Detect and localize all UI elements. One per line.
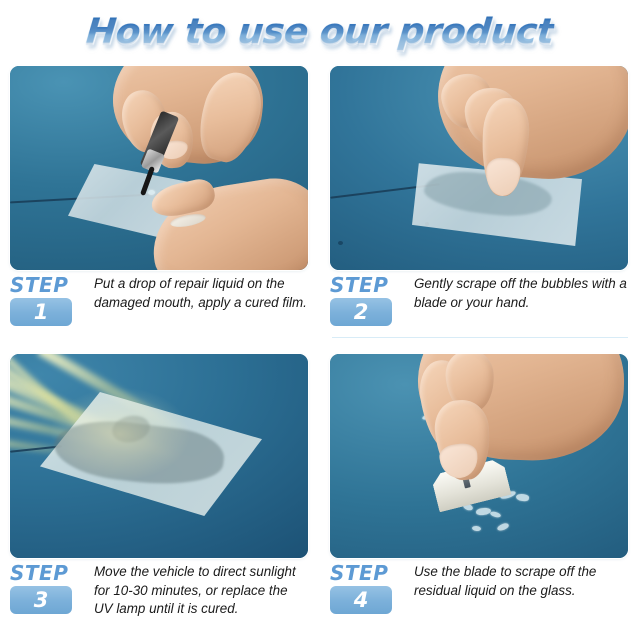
step-badge-group-1: STEP 1 [10,274,84,326]
step-card-2[interactable]: STEP 2 Gently scrape off the bubbles wit… [330,64,628,352]
row-divider-right [332,337,628,338]
steps-row-2: STEP 3 Move the vehicle to direct sunlig… [0,352,640,640]
step-image-2 [330,66,628,270]
liquid-drop [148,190,155,195]
step-badge-group-2: STEP 2 [330,274,404,326]
step-word-label: STEP [330,275,404,295]
step-word-label: STEP [330,563,404,583]
step-card-4[interactable]: STEP 4 Use the blade to scrape off the r… [330,352,628,640]
step-description: Put a drop of repair liquid on the damag… [84,274,308,312]
step-badge-group-4: STEP 4 [330,562,404,614]
step-caption-4: STEP 4 Use the blade to scrape off the r… [330,562,628,640]
step-word-label: STEP [10,563,84,583]
step-caption-3: STEP 3 Move the vehicle to direct sunlig… [10,562,308,640]
step-number-badge: 1 [10,298,72,326]
step-image-1 [10,66,308,270]
step-number: 2 [354,302,369,323]
step-number: 3 [34,590,49,611]
step-card-1[interactable]: STEP 1 Put a drop of repair liquid on th… [10,64,308,352]
step-number: 4 [354,590,369,611]
steps-row-1: STEP 1 Put a drop of repair liquid on th… [0,64,640,352]
debris-speck [338,241,343,245]
step-number-badge: 2 [330,298,392,326]
step-badge-group-3: STEP 3 [10,562,84,614]
step-description: Use the blade to scrape off the residual… [404,562,628,600]
step-number: 1 [34,302,49,323]
step-description: Gently scrape off the bubbles with a bla… [404,274,628,312]
step-caption-2: STEP 2 Gently scrape off the bubbles wit… [330,274,628,352]
step-image-3 [10,354,308,558]
step-card-3[interactable]: STEP 3 Move the vehicle to direct sunlig… [10,352,308,640]
page-title: How to use our product [85,15,555,50]
steps-grid: STEP 1 Put a drop of repair liquid on th… [0,64,640,640]
step-number-badge: 4 [330,586,392,614]
step-description: Move the vehicle to direct sunlight for … [84,562,308,619]
step-word-label: STEP [10,275,84,295]
step-image-4 [330,354,628,558]
step-number-badge: 3 [10,586,72,614]
step-caption-1: STEP 1 Put a drop of repair liquid on th… [10,274,308,352]
page-header: How to use our product [0,0,640,64]
